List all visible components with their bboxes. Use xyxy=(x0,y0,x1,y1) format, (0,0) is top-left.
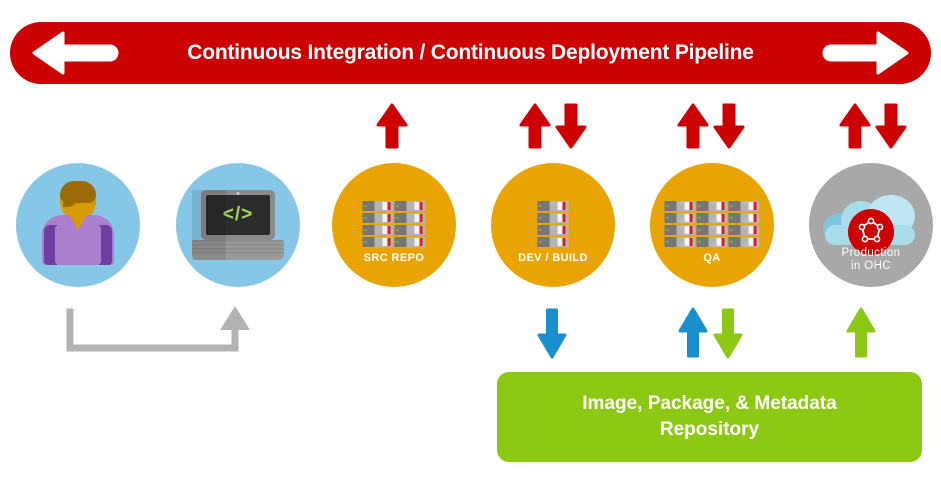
pipeline-title: Continuous Integration / Continuous Depl… xyxy=(97,41,844,65)
node-src-repo[interactable]: SRC REPO xyxy=(332,163,456,287)
server-rack-icon-src-repo xyxy=(363,201,426,248)
node-label-production-line1: Production xyxy=(809,247,933,260)
server-rack-icon-dev-build xyxy=(538,201,569,248)
arrow-down-icon-qa xyxy=(712,103,746,149)
arrow-up-icon-repo-to-qa xyxy=(677,307,709,359)
node-label-production: Production in OHC xyxy=(809,247,933,273)
pipeline-banner: Continuous Integration / Continuous Depl… xyxy=(10,22,931,84)
arrow-down-icon-dev-build xyxy=(554,103,588,149)
repository-box[interactable]: Image, Package, & Metadata Repository xyxy=(497,372,922,462)
node-workstation[interactable]: </> xyxy=(176,163,300,287)
person-icon xyxy=(42,181,114,265)
node-dev-build[interactable]: DEV / BUILD xyxy=(491,163,615,287)
arrow-down-icon-dev-build-to-repo xyxy=(536,307,568,359)
repository-label-line1: Image, Package, & Metadata xyxy=(582,391,837,417)
arrow-up-icon-dev-build xyxy=(518,103,552,149)
node-developer[interactable] xyxy=(16,163,140,287)
node-label-src-repo: SRC REPO xyxy=(332,252,456,265)
arrow-up-icon-src-repo xyxy=(375,103,409,149)
repository-label: Image, Package, & Metadata Repository xyxy=(582,391,837,443)
arrow-up-icon-production xyxy=(838,103,872,149)
laptop-code-icon: </> xyxy=(192,190,284,260)
node-qa[interactable]: QA xyxy=(650,163,774,287)
arrow-down-icon-production xyxy=(874,103,908,149)
cicd-pipeline-diagram: Continuous Integration / Continuous Depl… xyxy=(0,0,941,500)
arrow-up-icon-repo-to-production xyxy=(845,307,877,359)
repository-label-line2: Repository xyxy=(582,417,837,443)
laptop-screen-text: </> xyxy=(206,195,270,235)
node-label-dev-build: DEV / BUILD xyxy=(491,252,615,265)
developer-to-workstation-connector xyxy=(60,300,260,360)
cloud-openshift-icon xyxy=(823,191,919,253)
node-label-qa: QA xyxy=(650,252,774,265)
server-rack-icon-qa xyxy=(665,201,760,248)
arrow-up-icon-qa xyxy=(676,103,710,149)
arrow-left-icon xyxy=(30,29,122,77)
node-production[interactable]: Production in OHC xyxy=(809,163,933,287)
arrow-down-icon-qa-to-repo xyxy=(712,307,744,359)
arrow-right-icon xyxy=(819,29,911,77)
node-label-production-line2: in OHC xyxy=(809,260,933,273)
